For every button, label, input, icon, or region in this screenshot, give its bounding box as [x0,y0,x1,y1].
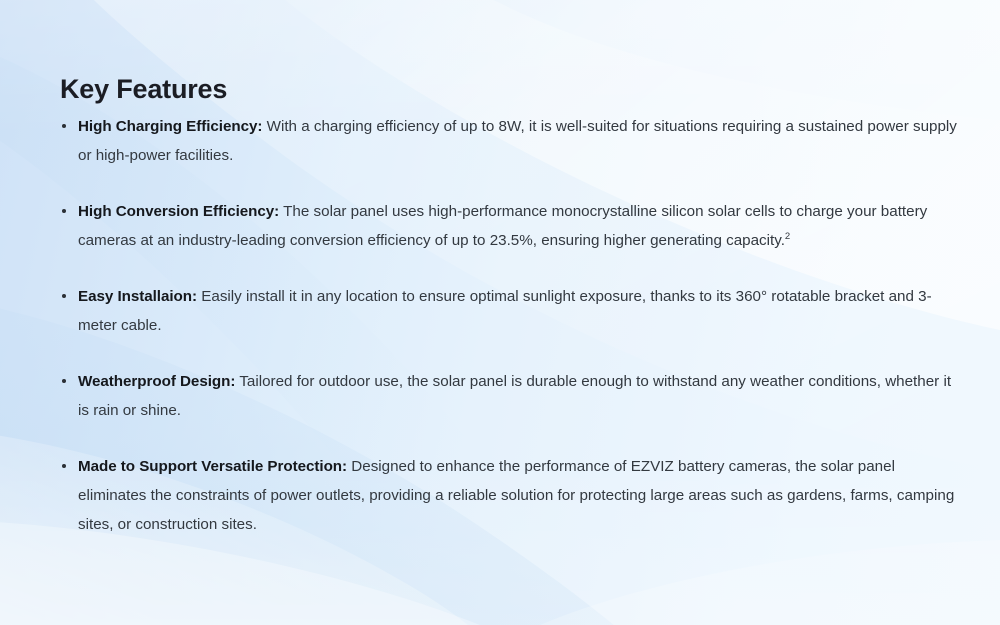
feature-term: Made to Support Versatile Protection: [78,458,347,475]
feature-item-high-conversion-efficiency: High Conversion Efficiency: The solar pa… [60,197,965,255]
feature-item-high-charging-efficiency: High Charging Efficiency: With a chargin… [60,112,965,170]
bullet-icon [62,209,66,213]
feature-description: Easily install it in any location to ens… [78,288,932,334]
feature-item-weatherproof-design: Weatherproof Design: Tailored for outdoo… [60,367,965,425]
feature-item-easy-installation: Easy Installaion: Easily install it in a… [60,282,965,340]
bullet-icon [62,124,66,128]
footnote-marker: 2 [785,231,790,242]
bullet-icon [62,294,66,298]
feature-term: High Conversion Efficiency: [78,203,279,220]
swoosh-bottom-right-fade [540,540,1000,625]
feature-term: Easy Installaion: [78,288,197,305]
feature-term: High Charging Efficiency: [78,118,262,135]
feature-item-versatile-protection: Made to Support Versatile Protection: De… [60,452,965,539]
bullet-icon [62,464,66,468]
feature-list: High Charging Efficiency: With a chargin… [60,112,965,539]
bullet-icon [62,379,66,383]
feature-term: Weatherproof Design: [78,373,235,390]
page-title: Key Features [60,75,227,105]
feature-slide: Key Features High Charging Efficiency: W… [0,0,1000,625]
